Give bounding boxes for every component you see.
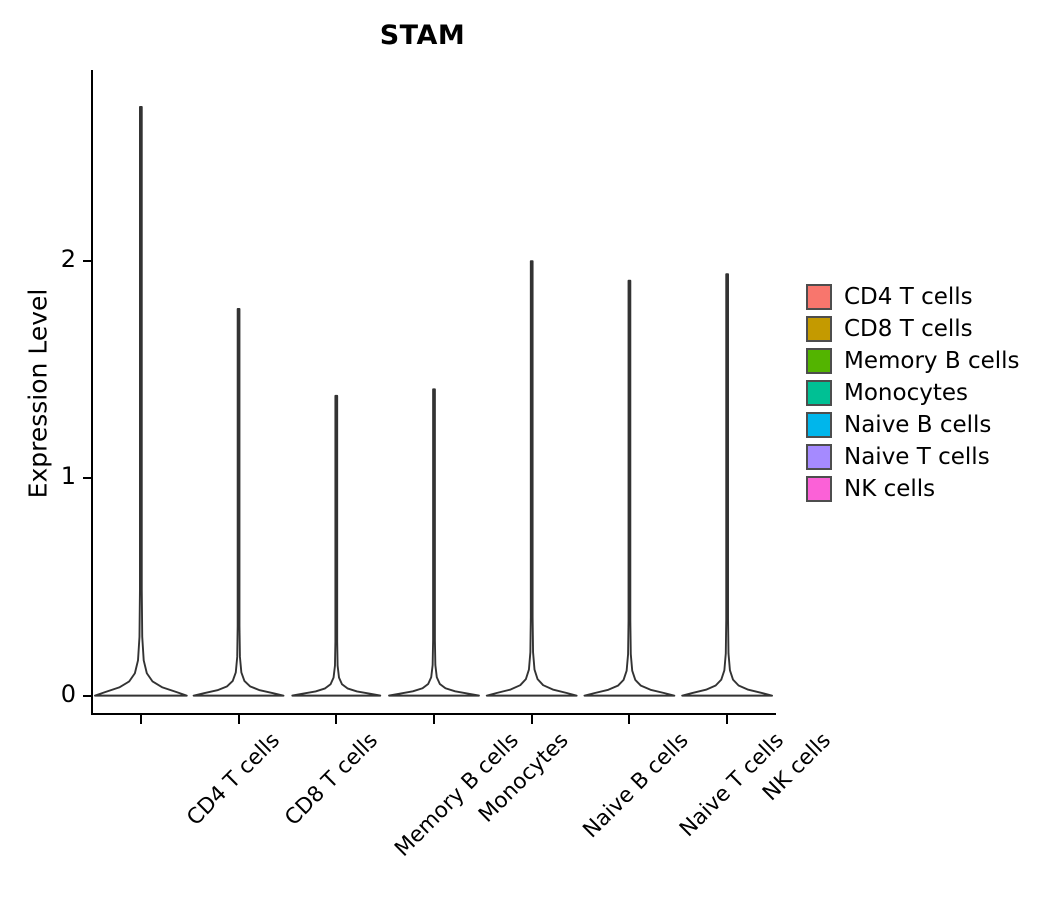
legend-swatch xyxy=(806,476,832,502)
legend-swatch xyxy=(806,348,832,374)
legend-item-naive-b-cells[interactable]: Naive B cells xyxy=(806,409,1036,441)
violin-shape xyxy=(95,107,187,696)
legend-label: Monocytes xyxy=(844,382,968,405)
x-tick-mark xyxy=(433,715,435,724)
violin-naive-t-cells xyxy=(584,281,674,696)
legend-label: Naive T cells xyxy=(844,446,990,469)
violin-cd4-t-cells xyxy=(95,107,187,696)
legend-item-nk-cells[interactable]: NK cells xyxy=(806,473,1036,505)
violin-shape xyxy=(292,396,380,696)
violin-plot-figure: STAM Expression Level 012 CD4 T cellsCD8… xyxy=(0,0,1050,900)
violin-naive-b-cells xyxy=(487,261,577,695)
violin-shape xyxy=(194,309,284,696)
violin-nk-cells xyxy=(682,274,772,695)
x-tick-label: CD4 T cells xyxy=(182,728,285,831)
legend-label: Memory B cells xyxy=(844,350,1020,373)
legend-swatch xyxy=(806,380,832,406)
violin-memory-b-cells xyxy=(292,396,380,696)
y-axis-line xyxy=(91,70,93,715)
legend-label: Naive B cells xyxy=(844,414,991,437)
y-tick-label: 2 xyxy=(36,245,76,273)
x-tick-label: CD8 T cells xyxy=(280,728,383,831)
x-tick-mark xyxy=(238,715,240,724)
legend-label: NK cells xyxy=(844,478,935,501)
y-tick-label: 1 xyxy=(36,462,76,490)
legend: CD4 T cellsCD8 T cellsMemory B cellsMono… xyxy=(806,281,1036,505)
violin-monocytes xyxy=(389,389,479,695)
x-tick-mark xyxy=(140,715,142,724)
y-axis-title: Expression Level xyxy=(24,244,53,544)
legend-item-monocytes[interactable]: Monocytes xyxy=(806,377,1036,409)
legend-item-cd8-t-cells[interactable]: CD8 T cells xyxy=(806,313,1036,345)
violin-shape xyxy=(389,389,479,695)
x-tick-mark xyxy=(628,715,630,724)
legend-label: CD8 T cells xyxy=(844,318,973,341)
violin-shape xyxy=(584,281,674,696)
page-title: STAM xyxy=(0,20,845,51)
y-tick-label: 0 xyxy=(36,680,76,708)
legend-swatch xyxy=(806,444,832,470)
legend-label: CD4 T cells xyxy=(844,286,973,309)
violin-shape xyxy=(682,274,772,695)
x-tick-mark xyxy=(531,715,533,724)
y-tick-mark xyxy=(83,477,91,479)
y-tick-mark xyxy=(83,695,91,697)
legend-swatch xyxy=(806,284,832,310)
legend-item-memory-b-cells[interactable]: Memory B cells xyxy=(806,345,1036,377)
legend-swatch xyxy=(806,316,832,342)
legend-item-cd4-t-cells[interactable]: CD4 T cells xyxy=(806,281,1036,313)
legend-item-naive-t-cells[interactable]: Naive T cells xyxy=(806,441,1036,473)
x-tick-mark xyxy=(726,715,728,724)
x-tick-mark xyxy=(335,715,337,724)
legend-swatch xyxy=(806,412,832,438)
y-tick-mark xyxy=(83,260,91,262)
violin-cd8-t-cells xyxy=(194,309,284,696)
violin-shape xyxy=(487,261,577,695)
